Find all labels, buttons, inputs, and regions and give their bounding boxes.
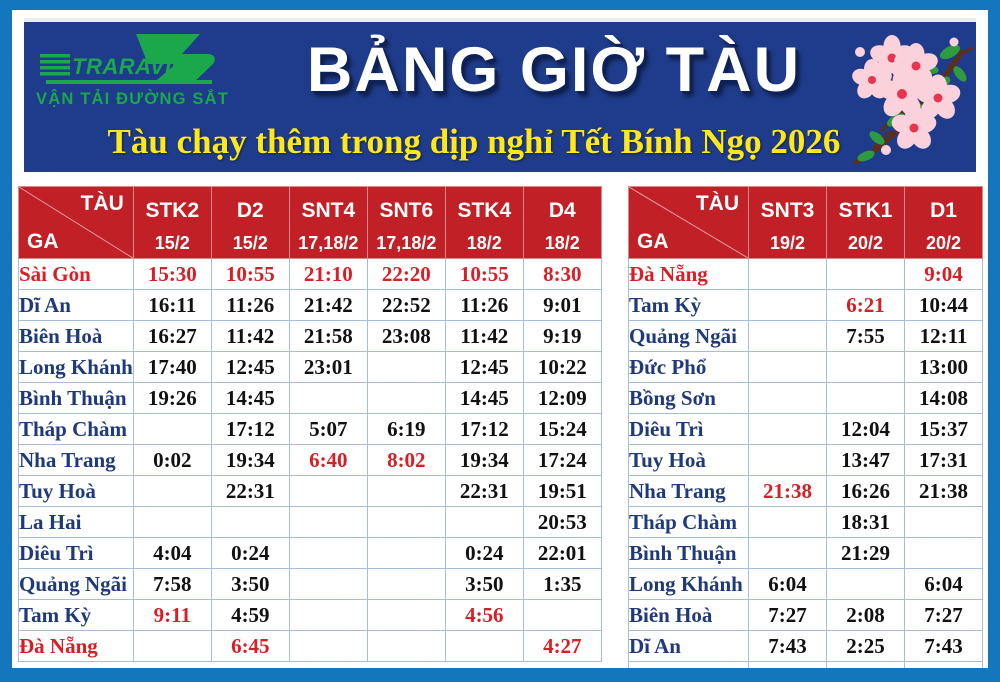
departure-time-cell bbox=[445, 507, 523, 538]
table-row: Quảng Ngãi7:5512:11 bbox=[629, 321, 983, 352]
departure-time-cell: 8:50 bbox=[749, 662, 827, 669]
logo-tagline-text: VẬN TẢI ĐƯỜNG SẮT bbox=[36, 89, 228, 108]
departure-time-cell: 21:10 bbox=[289, 259, 367, 290]
table-row: Tam Kỳ9:114:594:56 bbox=[19, 600, 602, 631]
departure-time-cell: 12:11 bbox=[905, 321, 983, 352]
departure-time-cell: 11:26 bbox=[445, 290, 523, 321]
table-row: Biên Hoà7:272:087:27 bbox=[629, 600, 983, 631]
departure-time-cell bbox=[133, 631, 211, 662]
train-column-header-snt3: SNT319/2 bbox=[749, 187, 827, 259]
left-table-head: TÀUGASTK215/2D215/2SNT417,18/2SNT617,18/… bbox=[19, 187, 602, 259]
train-code: SNT3 bbox=[749, 193, 826, 222]
logo-brand-text: TRARAVICO bbox=[72, 54, 206, 79]
departure-time-cell bbox=[367, 476, 445, 507]
departure-time-cell bbox=[905, 538, 983, 569]
departure-time-cell: 11:42 bbox=[211, 321, 289, 352]
table-row: Đà Nẵng6:454:27 bbox=[19, 631, 602, 662]
departure-time-cell bbox=[905, 507, 983, 538]
station-name-cell: Long Khánh bbox=[19, 352, 134, 383]
departure-time-cell bbox=[289, 569, 367, 600]
station-name-cell: Sài Gòn bbox=[19, 259, 134, 290]
corner-label-ga: GA bbox=[27, 231, 59, 253]
train-column-header-snt6: SNT617,18/2 bbox=[367, 187, 445, 259]
table-row: La Hai20:53 bbox=[19, 507, 602, 538]
departure-time-cell: 9:01 bbox=[523, 290, 601, 321]
departure-time-cell: 19:51 bbox=[523, 476, 601, 507]
departure-time-cell bbox=[367, 631, 445, 662]
train-column-header-d1: D120/2 bbox=[905, 187, 983, 259]
left-header-row: TÀUGASTK215/2D215/2SNT417,18/2SNT617,18/… bbox=[19, 187, 602, 259]
departure-time-cell: 17:40 bbox=[133, 352, 211, 383]
train-date: 18/2 bbox=[524, 222, 601, 253]
train-date: 17,18/2 bbox=[290, 222, 367, 253]
departure-time-cell: 4:56 bbox=[445, 600, 523, 631]
departure-time-cell: 5:07 bbox=[289, 414, 367, 445]
train-code: STK2 bbox=[134, 193, 211, 222]
departure-time-cell: 0:24 bbox=[211, 538, 289, 569]
table-corner-header: TÀUGA bbox=[629, 187, 749, 259]
station-name-cell: Tam Kỳ bbox=[629, 290, 749, 321]
train-code: D1 bbox=[905, 193, 982, 222]
station-name-cell: Diêu Trì bbox=[19, 538, 134, 569]
train-date: 20/2 bbox=[905, 222, 982, 253]
departure-time-cell: 6:40 bbox=[289, 445, 367, 476]
table-row: Bình Thuận19:2614:4514:4512:09 bbox=[19, 383, 602, 414]
train-code: D4 bbox=[524, 193, 601, 222]
station-name-cell: Đà Nẵng bbox=[629, 259, 749, 290]
train-date: 15/2 bbox=[212, 222, 289, 253]
departure-time-cell: 20:53 bbox=[523, 507, 601, 538]
right-table-body: Đà Nẵng9:04Tam Kỳ6:2110:44Quảng Ngãi7:55… bbox=[629, 259, 983, 669]
departure-time-cell: 2:08 bbox=[827, 600, 905, 631]
train-date: 18/2 bbox=[446, 222, 523, 253]
departure-time-cell: 21:58 bbox=[289, 321, 367, 352]
train-column-header-snt4: SNT417,18/2 bbox=[289, 187, 367, 259]
departure-time-cell: 9:19 bbox=[523, 321, 601, 352]
departure-time-cell: 16:11 bbox=[133, 290, 211, 321]
station-name-cell: Tam Kỳ bbox=[19, 600, 134, 631]
station-name-cell: Quảng Ngãi bbox=[19, 569, 134, 600]
departure-time-cell: 19:34 bbox=[211, 445, 289, 476]
station-name-cell: Nha Trang bbox=[19, 445, 134, 476]
station-name-cell: Tháp Chàm bbox=[629, 507, 749, 538]
train-code: STK1 bbox=[827, 193, 904, 222]
table-row: Dĩ An16:1111:2621:4222:5211:269:01 bbox=[19, 290, 602, 321]
departure-time-cell: 17:31 bbox=[905, 445, 983, 476]
departure-time-cell bbox=[211, 507, 289, 538]
train-code: SNT6 bbox=[368, 193, 445, 222]
departure-time-cell bbox=[523, 600, 601, 631]
departure-time-cell bbox=[827, 569, 905, 600]
poster-root: TRARAVICO VẬN TẢI ĐƯỜNG SẮT BẢNG GIỜ TÀU… bbox=[0, 0, 1000, 682]
table-row: Dĩ An7:432:257:43 bbox=[629, 631, 983, 662]
departure-time-cell bbox=[827, 383, 905, 414]
station-name-cell: Bồng Sơn bbox=[629, 383, 749, 414]
departure-time-cell bbox=[133, 476, 211, 507]
table-row: Tháp Chàm17:125:076:1917:1215:24 bbox=[19, 414, 602, 445]
departure-time-cell: 7:27 bbox=[749, 600, 827, 631]
corner-label-tau: TÀU bbox=[81, 193, 124, 215]
departure-time-cell: 22:31 bbox=[445, 476, 523, 507]
station-name-cell: Đức Phổ bbox=[629, 352, 749, 383]
departure-time-cell: 9:11 bbox=[133, 600, 211, 631]
departure-time-cell bbox=[367, 600, 445, 631]
table-row: Đức Phổ13:00 bbox=[629, 352, 983, 383]
departure-time-cell bbox=[289, 383, 367, 414]
poster-page: TRARAVICO VẬN TẢI ĐƯỜNG SẮT BẢNG GIỜ TÀU… bbox=[12, 10, 988, 668]
departure-time-cell: 17:12 bbox=[211, 414, 289, 445]
departure-time-cell: 22:20 bbox=[367, 259, 445, 290]
train-code: STK4 bbox=[446, 193, 523, 222]
departure-time-cell bbox=[367, 507, 445, 538]
station-name-cell: Dĩ An bbox=[19, 290, 134, 321]
departure-time-cell: 10:55 bbox=[445, 259, 523, 290]
table-row: Sài Gòn8:503:008:50 bbox=[629, 662, 983, 669]
departure-time-cell bbox=[749, 383, 827, 414]
station-name-cell: Bình Thuận bbox=[19, 383, 134, 414]
departure-time-cell bbox=[133, 414, 211, 445]
table-row: Tuy Hoà13:4717:31 bbox=[629, 445, 983, 476]
departure-time-cell: 6:04 bbox=[905, 569, 983, 600]
schedule-table-left-wrap: TÀUGASTK215/2D215/2SNT417,18/2SNT617,18/… bbox=[18, 186, 602, 662]
departure-time-cell: 4:04 bbox=[133, 538, 211, 569]
departure-time-cell bbox=[367, 538, 445, 569]
page-subtitle: Tàu chạy thêm trong dịp nghỉ Tết Bính Ng… bbox=[54, 121, 894, 163]
departure-time-cell: 22:01 bbox=[523, 538, 601, 569]
table-row: Bồng Sơn14:08 bbox=[629, 383, 983, 414]
station-name-cell: Bình Thuận bbox=[629, 538, 749, 569]
train-column-header-d2: D215/2 bbox=[211, 187, 289, 259]
departure-time-cell: 23:08 bbox=[367, 321, 445, 352]
table-corner-header: TÀUGA bbox=[19, 187, 134, 259]
departure-time-cell: 12:04 bbox=[827, 414, 905, 445]
corner-label-ga: GA bbox=[637, 231, 669, 253]
departure-time-cell: 8:30 bbox=[523, 259, 601, 290]
departure-time-cell: 12:45 bbox=[445, 352, 523, 383]
departure-time-cell bbox=[827, 259, 905, 290]
train-column-header-stk2: STK215/2 bbox=[133, 187, 211, 259]
departure-time-cell bbox=[749, 352, 827, 383]
station-name-cell: Sài Gòn bbox=[629, 662, 749, 669]
departure-time-cell bbox=[367, 383, 445, 414]
departure-time-cell: 19:26 bbox=[133, 383, 211, 414]
departure-time-cell: 4:59 bbox=[211, 600, 289, 631]
departure-time-cell: 14:45 bbox=[445, 383, 523, 414]
departure-time-cell: 8:02 bbox=[367, 445, 445, 476]
table-row: Bình Thuận21:29 bbox=[629, 538, 983, 569]
station-name-cell: Đà Nẵng bbox=[19, 631, 134, 662]
departure-time-cell bbox=[749, 445, 827, 476]
table-row: Biên Hoà16:2711:4221:5823:0811:429:19 bbox=[19, 321, 602, 352]
departure-time-cell: 6:21 bbox=[827, 290, 905, 321]
schedule-table-left: TÀUGASTK215/2D215/2SNT417,18/2SNT617,18/… bbox=[18, 186, 602, 662]
train-date: 20/2 bbox=[827, 222, 904, 253]
departure-time-cell: 13:00 bbox=[905, 352, 983, 383]
table-row: Quảng Ngãi7:583:503:501:35 bbox=[19, 569, 602, 600]
departure-time-cell: 21:38 bbox=[905, 476, 983, 507]
table-row: Diêu Trì4:040:240:2422:01 bbox=[19, 538, 602, 569]
departure-time-cell: 21:42 bbox=[289, 290, 367, 321]
departure-time-cell: 22:52 bbox=[367, 290, 445, 321]
departure-time-cell: 19:34 bbox=[445, 445, 523, 476]
train-column-header-stk1: STK120/2 bbox=[827, 187, 905, 259]
schedule-table-right-wrap: TÀUGASNT319/2STK120/2D120/2 Đà Nẵng9:04T… bbox=[628, 186, 983, 668]
station-name-cell: Tuy Hoà bbox=[629, 445, 749, 476]
station-name-cell: Long Khánh bbox=[629, 569, 749, 600]
departure-time-cell: 16:27 bbox=[133, 321, 211, 352]
departure-time-cell: 7:43 bbox=[749, 631, 827, 662]
station-name-cell: Dĩ An bbox=[629, 631, 749, 662]
departure-time-cell: 3:50 bbox=[445, 569, 523, 600]
train-code: SNT4 bbox=[290, 193, 367, 222]
departure-time-cell: 4:27 bbox=[523, 631, 601, 662]
departure-time-cell bbox=[749, 538, 827, 569]
station-name-cell: Biên Hoà bbox=[19, 321, 134, 352]
departure-time-cell bbox=[289, 631, 367, 662]
departure-time-cell bbox=[749, 290, 827, 321]
departure-time-cell: 15:37 bbox=[905, 414, 983, 445]
departure-time-cell: 18:31 bbox=[827, 507, 905, 538]
departure-time-cell: 12:45 bbox=[211, 352, 289, 383]
table-row: Tuy Hoà22:3122:3119:51 bbox=[19, 476, 602, 507]
station-name-cell: Biên Hoà bbox=[629, 600, 749, 631]
table-row: Nha Trang0:0219:346:408:0219:3417:24 bbox=[19, 445, 602, 476]
train-column-header-stk4: STK418/2 bbox=[445, 187, 523, 259]
departure-time-cell: 17:12 bbox=[445, 414, 523, 445]
departure-time-cell bbox=[367, 569, 445, 600]
table-row: Tam Kỳ6:2110:44 bbox=[629, 290, 983, 321]
departure-time-cell: 3:50 bbox=[211, 569, 289, 600]
departure-time-cell: 10:44 bbox=[905, 290, 983, 321]
departure-time-cell: 1:35 bbox=[523, 569, 601, 600]
departure-time-cell: 7:27 bbox=[905, 600, 983, 631]
train-column-header-d4: D418/2 bbox=[523, 187, 601, 259]
cherry-blossom-decoration bbox=[830, 22, 976, 172]
table-row: Đà Nẵng9:04 bbox=[629, 259, 983, 290]
station-name-cell: Tuy Hoà bbox=[19, 476, 134, 507]
table-row: Tháp Chàm18:31 bbox=[629, 507, 983, 538]
departure-time-cell: 0:02 bbox=[133, 445, 211, 476]
corner-label-tau: TÀU bbox=[696, 193, 739, 215]
page-title: BẢNG GIỜ TÀU bbox=[234, 34, 874, 106]
station-name-cell: Quảng Ngãi bbox=[629, 321, 749, 352]
right-table-head: TÀUGASNT319/2STK120/2D120/2 bbox=[629, 187, 983, 259]
departure-time-cell: 10:22 bbox=[523, 352, 601, 383]
table-row: Sài Gòn15:3010:5521:1022:2010:558:30 bbox=[19, 259, 602, 290]
table-row: Long Khánh6:046:04 bbox=[629, 569, 983, 600]
table-row: Long Khánh17:4012:4523:0112:4510:22 bbox=[19, 352, 602, 383]
departure-time-cell bbox=[749, 321, 827, 352]
departure-time-cell: 3:00 bbox=[827, 662, 905, 669]
schedule-table-right: TÀUGASNT319/2STK120/2D120/2 Đà Nẵng9:04T… bbox=[628, 186, 983, 668]
table-row: Nha Trang21:3816:2621:38 bbox=[629, 476, 983, 507]
right-header-row: TÀUGASNT319/2STK120/2D120/2 bbox=[629, 187, 983, 259]
departure-time-cell: 11:26 bbox=[211, 290, 289, 321]
departure-time-cell: 21:38 bbox=[749, 476, 827, 507]
departure-time-cell bbox=[133, 507, 211, 538]
left-table-body: Sài Gòn15:3010:5521:1022:2010:558:30Dĩ A… bbox=[19, 259, 602, 662]
departure-time-cell bbox=[289, 507, 367, 538]
train-code: D2 bbox=[212, 193, 289, 222]
departure-time-cell: 14:45 bbox=[211, 383, 289, 414]
departure-time-cell: 22:31 bbox=[211, 476, 289, 507]
departure-time-cell bbox=[749, 507, 827, 538]
table-row: Diêu Trì12:0415:37 bbox=[629, 414, 983, 445]
departure-time-cell: 6:45 bbox=[211, 631, 289, 662]
departure-time-cell: 6:04 bbox=[749, 569, 827, 600]
departure-time-cell: 12:09 bbox=[523, 383, 601, 414]
departure-time-cell: 15:30 bbox=[133, 259, 211, 290]
station-name-cell: Diêu Trì bbox=[629, 414, 749, 445]
departure-time-cell: 21:29 bbox=[827, 538, 905, 569]
departure-time-cell: 14:08 bbox=[905, 383, 983, 414]
train-date: 17,18/2 bbox=[368, 222, 445, 253]
departure-time-cell: 11:42 bbox=[445, 321, 523, 352]
departure-time-cell: 0:24 bbox=[445, 538, 523, 569]
departure-time-cell: 7:58 bbox=[133, 569, 211, 600]
train-date: 19/2 bbox=[749, 222, 826, 253]
departure-time-cell: 10:55 bbox=[211, 259, 289, 290]
departure-time-cell: 6:19 bbox=[367, 414, 445, 445]
departure-time-cell bbox=[445, 631, 523, 662]
station-name-cell: Nha Trang bbox=[629, 476, 749, 507]
departure-time-cell bbox=[289, 476, 367, 507]
departure-time-cell: 13:47 bbox=[827, 445, 905, 476]
departure-time-cell bbox=[749, 414, 827, 445]
departure-time-cell bbox=[749, 259, 827, 290]
station-name-cell: La Hai bbox=[19, 507, 134, 538]
departure-time-cell: 7:43 bbox=[905, 631, 983, 662]
departure-time-cell bbox=[289, 538, 367, 569]
departure-time-cell: 17:24 bbox=[523, 445, 601, 476]
departure-time-cell bbox=[367, 352, 445, 383]
station-name-cell: Tháp Chàm bbox=[19, 414, 134, 445]
departure-time-cell: 8:50 bbox=[905, 662, 983, 669]
departure-time-cell: 9:04 bbox=[905, 259, 983, 290]
departure-time-cell bbox=[827, 352, 905, 383]
departure-time-cell bbox=[289, 600, 367, 631]
departure-time-cell: 15:24 bbox=[523, 414, 601, 445]
header-banner: TRARAVICO VẬN TẢI ĐƯỜNG SẮT BẢNG GIỜ TÀU… bbox=[24, 18, 976, 172]
departure-time-cell: 7:55 bbox=[827, 321, 905, 352]
traravico-logo: TRARAVICO VẬN TẢI ĐƯỜNG SẮT bbox=[32, 32, 228, 112]
train-date: 15/2 bbox=[134, 222, 211, 253]
departure-time-cell: 2:25 bbox=[827, 631, 905, 662]
departure-time-cell: 23:01 bbox=[289, 352, 367, 383]
departure-time-cell: 16:26 bbox=[827, 476, 905, 507]
